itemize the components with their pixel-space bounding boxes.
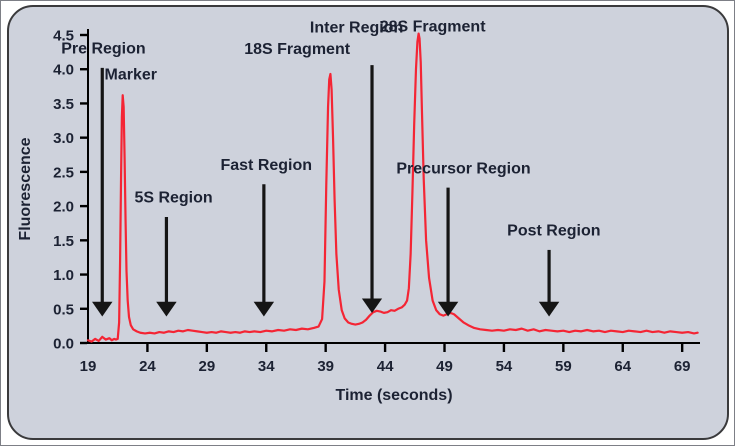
- y-tick-label: 0.0: [53, 336, 74, 353]
- y-tick-label: 1.5: [53, 233, 74, 250]
- x-tick-label: 39: [317, 358, 334, 375]
- annotation-label: Precursor Region: [396, 160, 530, 177]
- x-tick-label: 69: [674, 358, 691, 375]
- y-tick-label: 3.5: [53, 96, 74, 113]
- y-tick-label: 3.0: [53, 130, 74, 147]
- axis-lines: [88, 29, 700, 343]
- annotation-label: Marker: [105, 66, 157, 83]
- x-tick-label: 44: [377, 358, 394, 375]
- x-tick-label: 29: [198, 358, 215, 375]
- x-tick-label: 49: [436, 358, 453, 375]
- x-tick-label: 54: [496, 358, 513, 375]
- electropherogram-chart: 0.00.51.01.52.02.53.03.54.04.51924293439…: [0, 0, 735, 446]
- x-tick-label: 34: [258, 358, 275, 375]
- y-axis-ticks: 0.00.51.01.52.02.53.03.54.04.5: [53, 28, 87, 353]
- x-axis-ticks: 1924293439444954596469: [80, 344, 691, 375]
- annotation-label: Pre Region: [61, 40, 145, 57]
- y-tick-label: 0.5: [53, 301, 74, 318]
- y-tick-label: 2.5: [53, 164, 74, 181]
- x-tick-label: 59: [555, 358, 572, 375]
- x-axis-title: Time (seconds): [335, 387, 452, 404]
- annotations: Pre RegionMarker5S RegionFast Region18S …: [61, 19, 600, 309]
- annotation-label: 18S Fragment: [244, 41, 350, 58]
- x-tick-label: 24: [139, 358, 156, 375]
- annotation-label: 28S Fragment: [380, 19, 486, 36]
- fluorescence-trace: [88, 34, 698, 342]
- y-tick-label: 4.0: [53, 62, 74, 79]
- y-tick-label: 1.0: [53, 267, 74, 284]
- annotation-label: Fast Region: [220, 157, 312, 174]
- x-tick-label: 64: [614, 358, 631, 375]
- x-tick-label: 19: [80, 358, 97, 375]
- annotation-label: Post Region: [507, 223, 600, 240]
- figure-root: 0.00.51.01.52.02.53.03.54.04.51924293439…: [0, 0, 735, 446]
- y-tick-label: 2.0: [53, 199, 74, 216]
- annotation-label: 5S Region: [134, 190, 212, 207]
- axes: [88, 29, 700, 343]
- y-axis-title: Fluorescence: [17, 137, 34, 240]
